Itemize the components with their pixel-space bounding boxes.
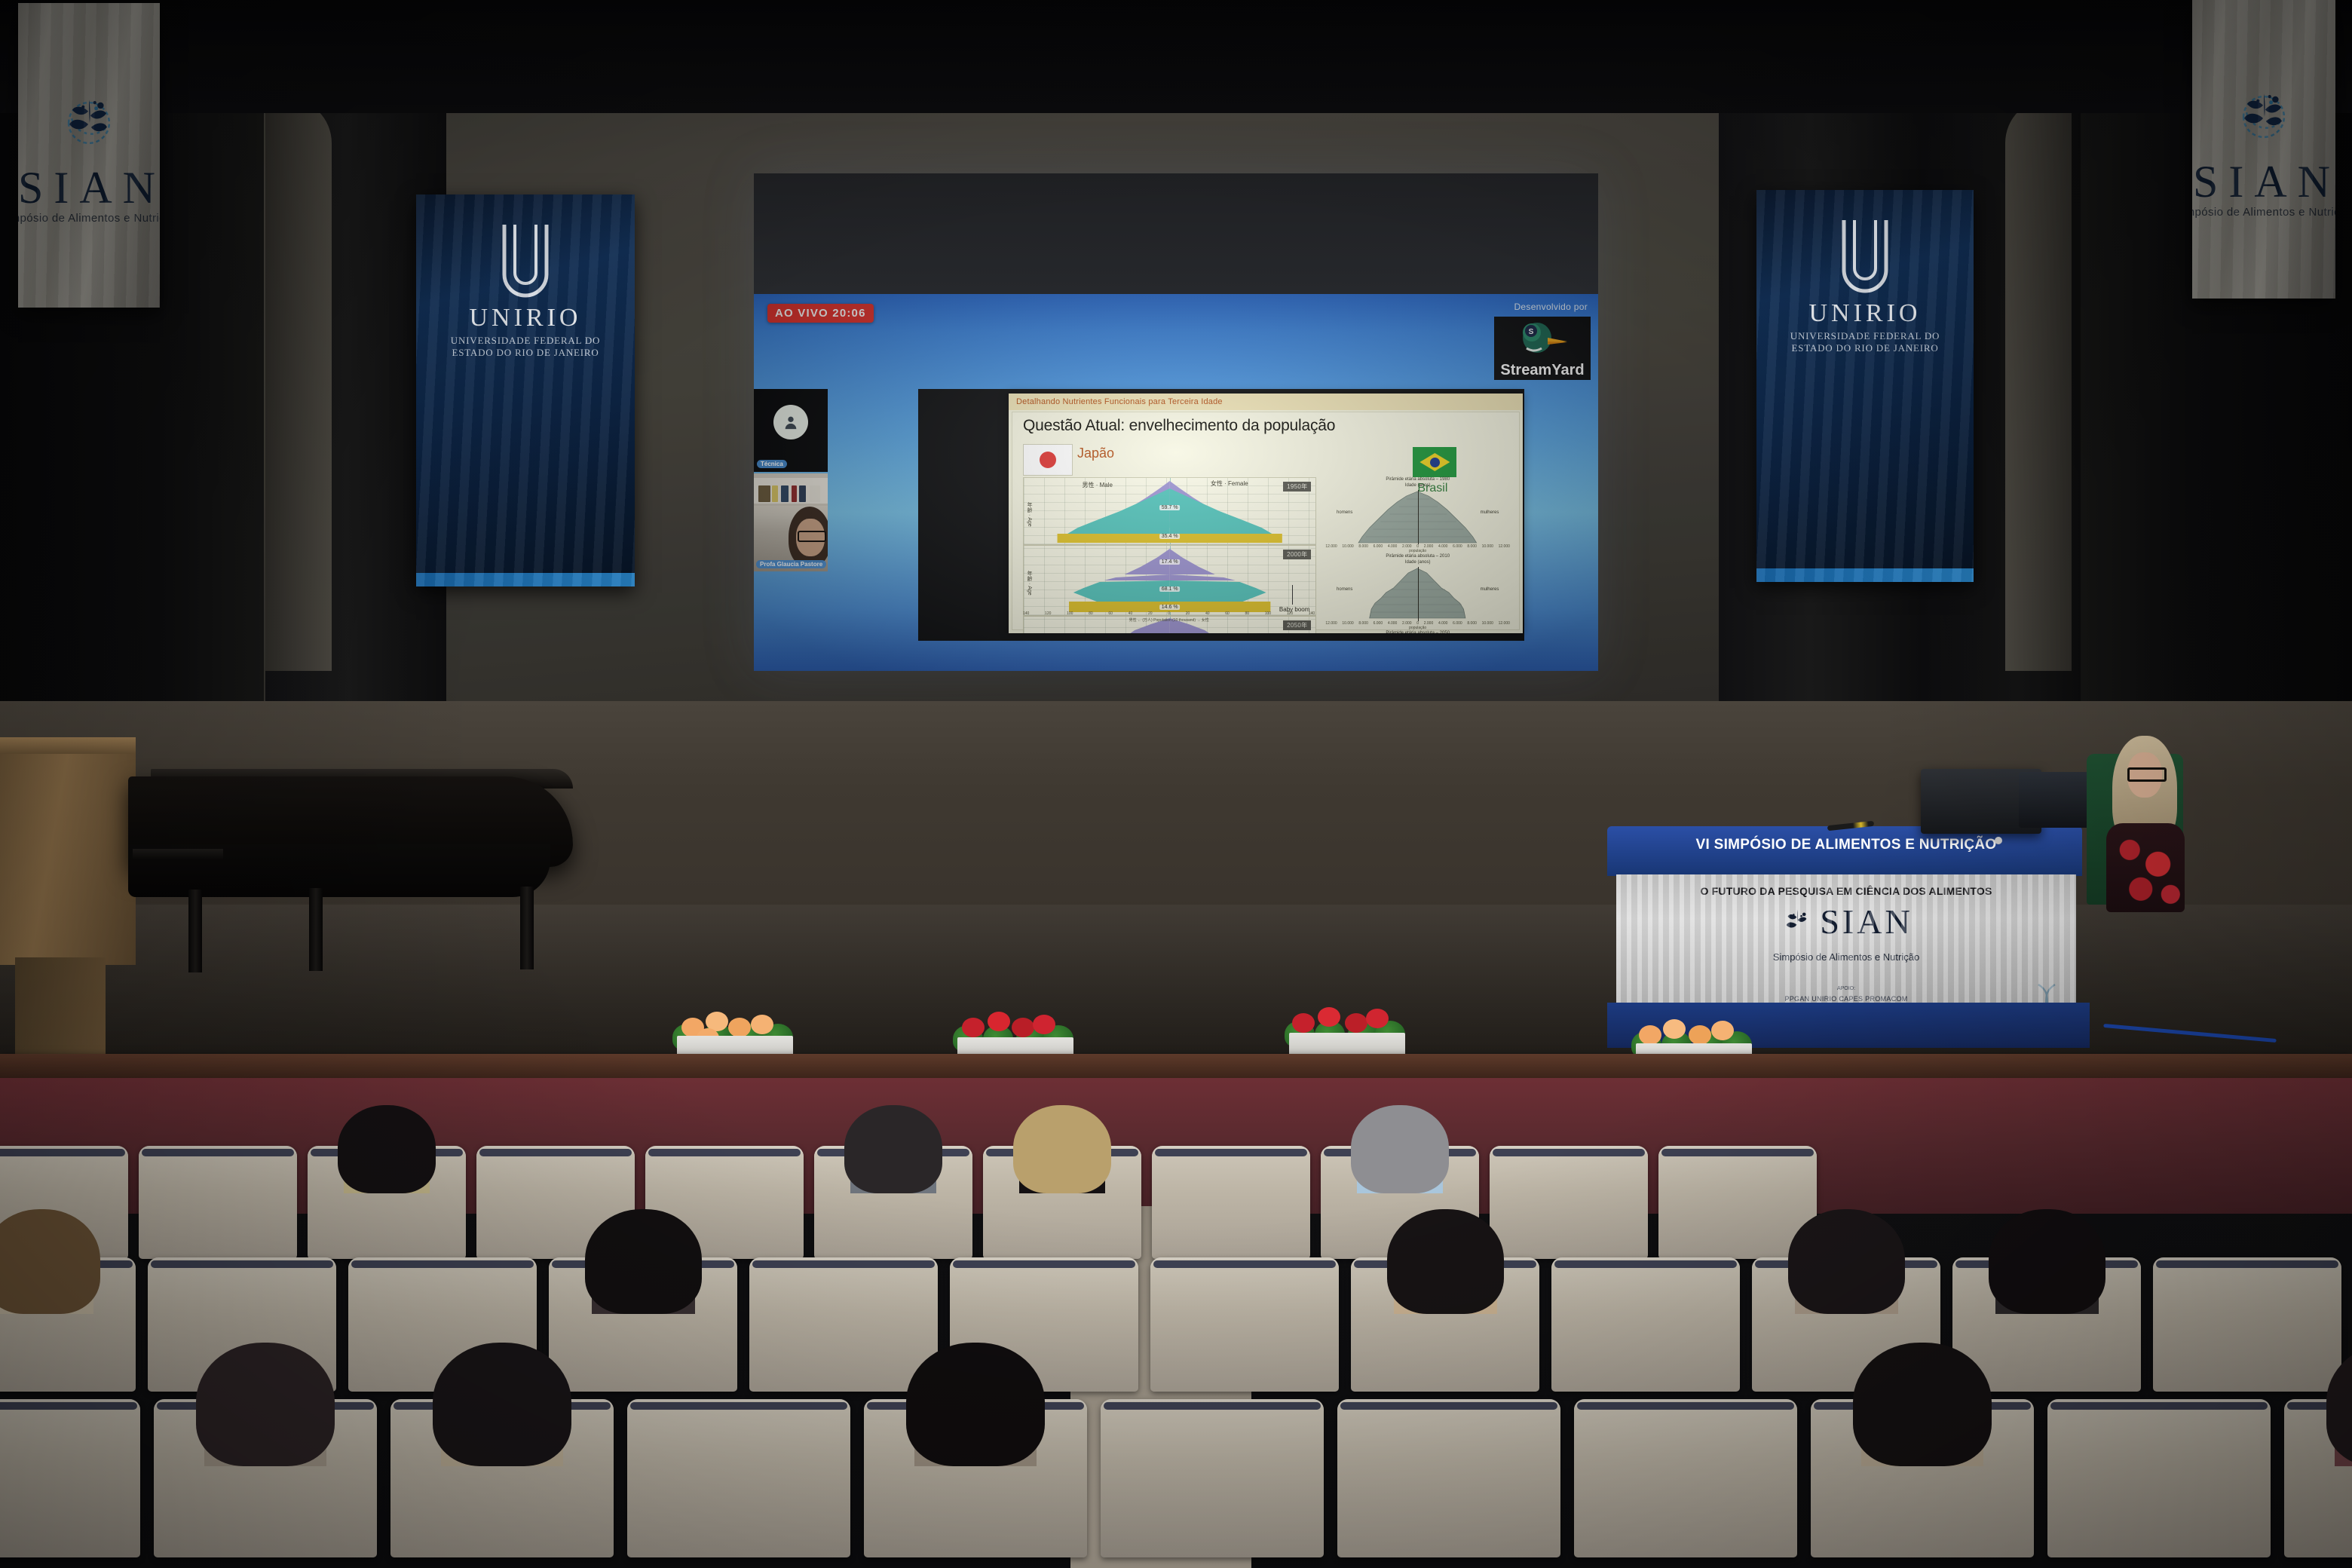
unirio-wordmark: UNIRIO xyxy=(1809,299,1922,328)
streamyard-word-b: Yard xyxy=(1551,362,1584,378)
japan-pct-mid: 59.7 % xyxy=(1159,505,1181,510)
webcam-background-shelf xyxy=(754,478,828,506)
brazil-pyramid-1980: Pirâmide etária absoluta – 1980 Idade (a… xyxy=(1325,477,1510,550)
stage-edge xyxy=(0,1054,2352,1080)
japan-xticks: 14012010080604020020406080100120140 xyxy=(1023,611,1315,616)
live-badge: AO VIVO 20:06 xyxy=(767,304,874,323)
shared-screen-area: Detalhando Nutrientes Funcionais para Te… xyxy=(918,389,1524,641)
audience-seat xyxy=(2153,1257,2341,1392)
slide-title: Questão Atual: envelhecimento da populaç… xyxy=(1023,417,1519,435)
japan-pct-mid: 68.1 % xyxy=(1159,586,1181,592)
unirio-line1: UNIVERSIDADE FEDERAL DO xyxy=(451,335,600,347)
audience-member xyxy=(1853,1343,1992,1466)
brazil-left-label: homens xyxy=(1337,510,1352,515)
brazil-caption: Pirâmide etária absoluta – 2010 xyxy=(1325,554,1510,560)
audience-member-hair xyxy=(1013,1105,1111,1193)
audience-seat xyxy=(139,1146,297,1259)
audience-member xyxy=(1351,1105,1449,1193)
apoio-label: APOIO: xyxy=(1616,986,2076,991)
unirio-bottom-strip xyxy=(1756,568,1974,582)
flag-brazil-icon xyxy=(1413,447,1456,477)
streamyard-broadcast-view: AO VIVO 20:06 Desenvolvido por S StreamY… xyxy=(754,294,1598,671)
ceiling xyxy=(0,0,2352,113)
audience-member-hair xyxy=(906,1343,1045,1466)
projection-screen-letterbox xyxy=(754,173,1598,294)
banner-unirio-left: UNIRIO UNIVERSIDADE FEDERAL DO ESTADO DO… xyxy=(416,194,635,586)
sian-wordmark: SIAN xyxy=(18,165,160,210)
audience-member xyxy=(844,1105,942,1193)
leaf-dna-icon xyxy=(1779,905,1815,939)
audience-member-hair xyxy=(1853,1343,1992,1466)
japan-pct-top: 17.4 % xyxy=(1159,559,1181,565)
flag-japan-icon xyxy=(1023,444,1073,476)
brazil-axis-title: Idade (anos) xyxy=(1325,483,1510,489)
japan-x-axis: 14012010080604020020406080100120140 男性 ←… xyxy=(1023,611,1315,623)
audience-member xyxy=(196,1343,335,1466)
audience-seat xyxy=(1101,1399,1324,1557)
audience-seat xyxy=(627,1399,850,1557)
brazil-axis-title: Idade (anos) xyxy=(1325,560,1510,566)
audience-seat xyxy=(0,1399,140,1557)
presentation-slide: Detalhando Nutrientes Funcionais para Te… xyxy=(1009,394,1523,633)
audience-member xyxy=(0,1209,100,1314)
participant-tile-tecnica[interactable]: Técnica xyxy=(754,389,828,472)
seated-presenter xyxy=(2102,736,2189,909)
glasses-icon xyxy=(798,531,826,542)
presenter-dress xyxy=(2106,823,2185,912)
audience-seat xyxy=(1152,1146,1310,1259)
piano-leg xyxy=(309,888,323,971)
slide-header-text: Detalhando Nutrientes Funcionais para Te… xyxy=(1016,397,1223,406)
gooseneck-microphone xyxy=(1995,837,2002,844)
audience-member xyxy=(1387,1209,1504,1314)
svg-text:S: S xyxy=(1529,328,1534,336)
brazil-right-label: mulheres xyxy=(1481,510,1499,515)
brazil-panel: Brasil Pirâmide etária absoluta – 1980 I… xyxy=(1321,444,1514,625)
audience-member xyxy=(2326,1343,2352,1466)
piano-leg xyxy=(188,890,202,972)
unirio-u-icon xyxy=(1829,216,1901,297)
glasses-icon xyxy=(2127,767,2167,782)
audience-member-hair xyxy=(433,1343,571,1466)
participant-tiles: Técnica Profa Glaucia Pastore xyxy=(754,389,828,571)
audience-member-hair xyxy=(0,1209,100,1314)
auditorium-photo: SIAN Simpósio de Alimentos e Nutrição xyxy=(0,0,2352,1568)
audience-member xyxy=(1013,1105,1111,1193)
unirio-line2: ESTADO DO RIO DE JANEIRO xyxy=(451,347,600,359)
leaf-dna-icon xyxy=(2228,81,2300,153)
audience-seat xyxy=(1337,1399,1560,1557)
brazil-left-label: homens xyxy=(1337,587,1352,592)
audience-member-hair xyxy=(1387,1209,1504,1314)
audience-member-hair xyxy=(1788,1209,1905,1314)
unirio-wordmark: UNIRIO xyxy=(470,304,582,332)
japan-pyramid-2000: 2000年 年齢 · Age xyxy=(1023,545,1316,616)
table-banner-logo: SIAN xyxy=(1616,905,2076,939)
audience-member-hair xyxy=(1351,1105,1449,1193)
japan-pyramid-1950: 1950年 男性 · Male 女性 · Female 年齢 · Age xyxy=(1023,477,1316,545)
banner-sian-left: SIAN Simpósio de Alimentos e Nutrição xyxy=(18,3,160,308)
audience-member xyxy=(338,1105,436,1193)
japan-legend: 男性 ← (万人) Population (10 thousand) → 女性 xyxy=(1023,617,1315,623)
sian-wordmark: SIAN xyxy=(2193,159,2335,204)
brazil-xlabel: população xyxy=(1325,549,1510,553)
brazil-caption: Pirâmide etária absoluta – 2050 xyxy=(1325,631,1510,633)
slide-header-bar: Detalhando Nutrientes Funcionais para Te… xyxy=(1009,394,1523,410)
audience-member-hair xyxy=(585,1209,702,1314)
audience-seat xyxy=(1490,1146,1648,1259)
streamyard-wordmark: StreamYard xyxy=(1500,363,1584,378)
audience-member xyxy=(585,1209,702,1314)
banner-unirio-right: UNIRIO UNIVERSIDADE FEDERAL DO ESTADO DO… xyxy=(1756,190,1974,582)
audience-seat xyxy=(1574,1399,1797,1557)
wooden-lectern xyxy=(0,739,136,965)
person-avatar-icon xyxy=(773,405,808,439)
brazil-caption: Pirâmide etária absoluta – 1980 xyxy=(1325,477,1510,483)
lectern-top xyxy=(0,737,136,754)
piano-keyboard xyxy=(133,849,223,859)
japan-panel: Japão 1950年 男性 · Male 女性 · Female 年齢 · A… xyxy=(1018,444,1321,625)
audience-seat xyxy=(2047,1399,2271,1557)
japan-label: Japão xyxy=(1077,446,1114,461)
audience-member-hair xyxy=(2326,1343,2352,1466)
sian-tagline: Simpósio de Alimentos e Nutrição xyxy=(2192,206,2335,219)
audience-seat xyxy=(1150,1257,1339,1392)
sian-tagline: Simpósio de Alimentos e Nutrição xyxy=(18,212,160,225)
audience-member-hair xyxy=(1989,1209,2105,1314)
slide-body: Questão Atual: envelhecimento da populaç… xyxy=(1012,412,1520,630)
audience-member xyxy=(433,1343,571,1466)
leaf-dna-icon xyxy=(53,87,125,159)
participant-name-label: Profa Glaucia Pastore xyxy=(756,560,826,568)
brazil-pyramid-2010: Pirâmide etária absoluta – 2010 Idade (a… xyxy=(1325,554,1510,626)
participant-tile-speaker[interactable]: Profa Glaucia Pastore xyxy=(754,473,828,571)
unirio-line2: ESTADO DO RIO DE JANEIRO xyxy=(1790,342,1940,354)
unirio-bottom-strip xyxy=(416,573,635,586)
unirio-line1: UNIVERSIDADE FEDERAL DO xyxy=(1790,330,1940,342)
audience-seat xyxy=(1551,1257,1740,1392)
streamyard-word-a: Stream xyxy=(1500,362,1551,378)
table-banner-sian-tagline: Simpósio de Alimentos e Nutrição xyxy=(1616,951,2076,963)
audience-seating xyxy=(0,1146,2352,1568)
audience-member-hair xyxy=(844,1105,942,1193)
participant-name-label: Técnica xyxy=(757,460,787,468)
baby-boom-tick xyxy=(1292,585,1293,605)
brazil-pyramid-2050: Pirâmide etária absoluta – 2050 Idade (a… xyxy=(1325,631,1510,633)
piano-leg xyxy=(520,887,534,969)
audience-member xyxy=(906,1343,1045,1466)
developed-by-label: Desenvolvido por xyxy=(1514,302,1588,312)
banner-sian-right: SIAN Simpósio de Alimentos e Nutrição xyxy=(2192,0,2335,299)
audience-member xyxy=(1788,1209,1905,1314)
proscenium-wing-left xyxy=(265,98,332,671)
brazil-right-label: mulheres xyxy=(1481,587,1499,592)
table-banner-subtitle: O FUTURO DA PESQUISA EM CIÊNCIA DOS ALIM… xyxy=(1616,885,2076,897)
table-banner-sian-word: SIAN xyxy=(1820,905,1913,939)
proscenium-wing-right xyxy=(2005,98,2072,671)
japan-pct-bottom: 35.4 % xyxy=(1159,534,1181,539)
brazil-xlabel: população xyxy=(1325,626,1510,630)
unirio-u-icon xyxy=(489,220,562,302)
audience-member xyxy=(1989,1209,2105,1314)
japan-pct-bottom: 14.6 % xyxy=(1159,605,1181,610)
audience-member-hair xyxy=(338,1105,436,1193)
audience-member-hair xyxy=(196,1343,335,1466)
table-banner-title: VI SIMPÓSIO DE ALIMENTOS E NUTRIÇÃO xyxy=(1616,837,2076,853)
streamyard-logo: S StreamYard xyxy=(1494,317,1591,380)
streamyard-duck-icon: S xyxy=(1514,318,1570,357)
